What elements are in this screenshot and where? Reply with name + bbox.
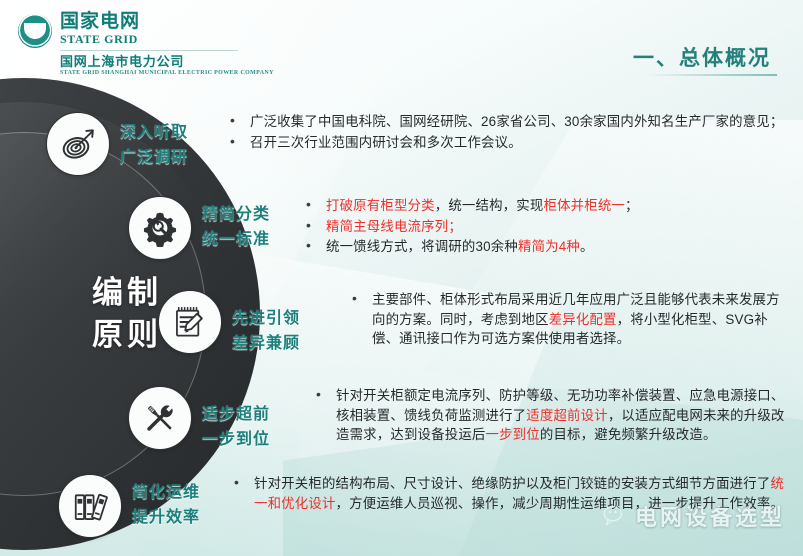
text-run: 柜体并柜统一 <box>543 198 625 213</box>
row-5-title-line-2: 提升效率 <box>132 505 228 530</box>
watermark-text: 电网设备选型 <box>635 500 785 532</box>
section-title-underline <box>645 74 777 76</box>
text-run: 广泛收集了中国电科院、国网经研院、26家省公司、30余家国内外知名生产厂家的意见… <box>250 114 783 129</box>
principle-row-4-bullets: 针对开关柜额定电流序列、防护等级、无功功率补偿装置、应急电源接口、核相装置、馈线… <box>312 386 791 446</box>
row-1-bullet-1: 广泛收集了中国电科院、国网经研院、26家省公司、30余家国内外知名生产厂家的意见… <box>226 112 791 132</box>
row-2-title-line-1: 精简分类 <box>202 202 298 227</box>
wrench-screwdriver-icon <box>128 386 192 450</box>
company-name-cn: 国网上海市电力公司 <box>60 54 274 69</box>
row-2-bullet-3: 统一馈线方式，将调研的30余种精简为4种。 <box>302 237 791 257</box>
row-4-bullet-1: 针对开关柜额定电流序列、防护等级、无功功率补偿装置、应急电源接口、核相装置、馈线… <box>312 386 791 445</box>
principle-row-3: 先进引领 差异兼顾 主要部件、柜体形式布局采用近几年应用广泛且能够代表未来发展方… <box>158 290 791 356</box>
target-arrow-icon <box>46 112 110 176</box>
row-4-title-line-1: 适步超前 <box>202 402 298 427</box>
watermark: 电网设备选型 <box>603 500 785 532</box>
principle-row-2-bullets: 打破原有柜型分类，统一结构，实现柜体并柜统一；精简主母线电流序列；统一馈线方式，… <box>302 196 791 258</box>
principle-row-3-bullets: 主要部件、柜体形式布局采用近几年应用广泛且能够代表未来发展方向的方案。同时，考虑… <box>348 290 791 350</box>
principle-row-4: 适步超前 一步到位 针对开关柜额定电流序列、防护等级、无功功率补偿装置、应急电源… <box>128 386 791 452</box>
text-run: 适度超前设计 <box>526 408 608 423</box>
row-4-title-line-2: 一步到位 <box>202 427 298 452</box>
logo-text-block: 国家电网 STATE GRID 国网上海市电力公司 STATE GRID SHA… <box>60 12 274 78</box>
slide-canvas: 国家电网 STATE GRID 国网上海市电力公司 STATE GRID SHA… <box>0 0 803 556</box>
row-1-bullet-2: 召开三次行业范围内研讨会和多次工作会议。 <box>226 133 791 153</box>
principle-row-1: 深入听取 广泛调研 广泛收集了中国电科院、国网经研院、26家省公司、30余家国内… <box>46 112 791 176</box>
text-run: 一步到位 <box>486 427 540 442</box>
binders-icon <box>58 474 122 538</box>
principle-row-4-title: 适步超前 一步到位 <box>202 402 298 452</box>
text-run: 针对开关柜的结构布局、尺寸设计、绝缘防护以及柜门铰链的安装方式细节方面进行了 <box>254 476 770 491</box>
principle-row-3-title: 先进引领 差异兼顾 <box>232 306 328 356</box>
text-run: 精简主母线电流序列； <box>326 219 462 234</box>
principle-row-2-title: 精简分类 统一标准 <box>202 202 298 252</box>
row-2-title-line-2: 统一标准 <box>202 227 298 252</box>
brand-name-en: STATE GRID <box>60 32 274 46</box>
text-run: 差异化配置 <box>549 312 617 327</box>
logo-divider <box>60 50 238 51</box>
principle-row-2: 精简分类 统一标准 打破原有柜型分类，统一结构，实现柜体并柜统一；精简主母线电流… <box>128 196 791 260</box>
ring-center-line-1: 编制 <box>92 272 162 314</box>
row-2-bullet-1: 打破原有柜型分类，统一结构，实现柜体并柜统一； <box>302 196 791 216</box>
row-5-title-line-1: 简化运维 <box>132 480 228 505</box>
state-grid-logo-icon <box>18 14 52 48</box>
company-name-en: STATE GRID SHANGHAI MUNICIPAL ELECTRIC P… <box>60 69 274 78</box>
text-run: ，统一结构，实现 <box>435 198 544 213</box>
row-3-title-line-2: 差异兼顾 <box>232 331 328 356</box>
text-run: 。 <box>580 239 594 254</box>
slide-header: 国家电网 STATE GRID 国网上海市电力公司 STATE GRID SHA… <box>0 0 803 88</box>
text-run: 打破原有柜型分类 <box>326 198 435 213</box>
state-grid-logo: 国家电网 STATE GRID 国网上海市电力公司 STATE GRID SHA… <box>18 12 274 78</box>
text-run: 的目标，避免频繁升级改造。 <box>540 427 717 442</box>
wechat-icon <box>603 505 629 527</box>
row-1-title-line-1: 深入听取 <box>120 120 216 145</box>
row-3-bullet-1: 主要部件、柜体形式布局采用近几年应用广泛且能够代表未来发展方向的方案。同时，考虑… <box>348 290 791 349</box>
text-run: 召开三次行业范围内研讨会和多次工作会议。 <box>250 135 522 150</box>
principle-row-1-bullets: 广泛收集了中国电科院、国网经研院、26家省公司、30余家国内外知名生产厂家的意见… <box>226 112 791 153</box>
row-3-title-line-1: 先进引领 <box>232 306 328 331</box>
gear-wrench-icon <box>128 196 192 260</box>
notepad-pencil-icon <box>158 290 222 354</box>
row-2-bullet-2: 精简主母线电流序列； <box>302 217 791 237</box>
text-run: ； <box>625 198 639 213</box>
section-title: 一、总体概况 <box>633 42 771 72</box>
text-run: 精简为4种 <box>518 239 580 254</box>
row-1-title-line-2: 广泛调研 <box>120 145 216 170</box>
brand-name-cn: 国家电网 <box>60 12 274 32</box>
text-run: 统一馈线方式，将调研的30余种 <box>326 239 518 254</box>
ring-center-line-2: 原则 <box>92 314 162 356</box>
principle-row-5-title: 简化运维 提升效率 <box>132 480 228 530</box>
principle-row-1-title: 深入听取 广泛调研 <box>120 120 216 170</box>
